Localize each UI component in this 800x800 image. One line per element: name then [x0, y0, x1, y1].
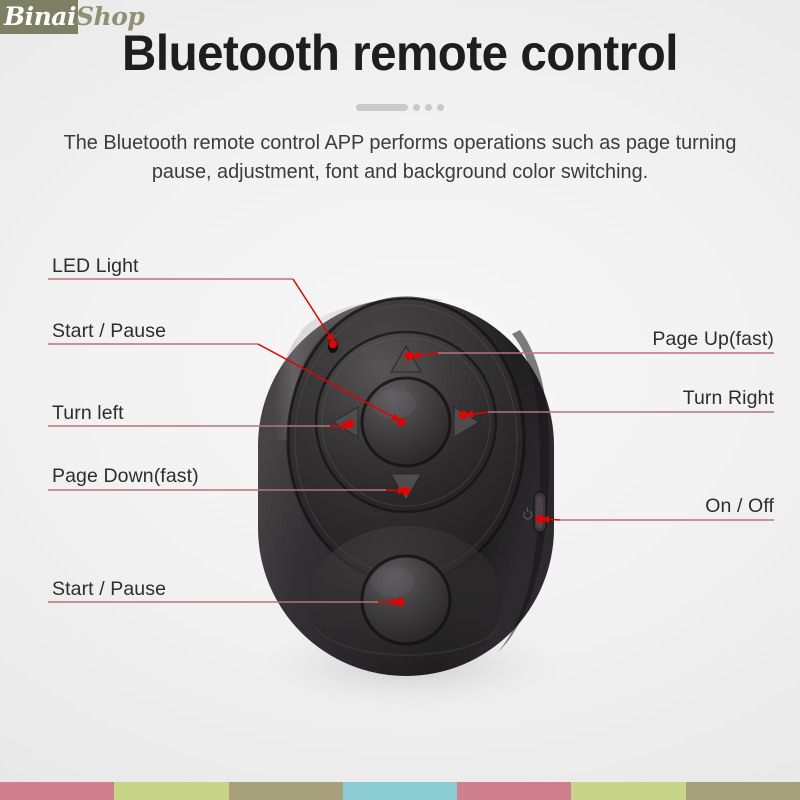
dot-on-off	[536, 515, 544, 523]
color-strip-segment-6	[571, 782, 685, 800]
power-button-side[interactable]	[534, 492, 546, 532]
callout-start-pause-bottom: Start / Pause	[52, 577, 166, 601]
dot-turn-left	[346, 420, 354, 428]
dot-turn-right	[459, 411, 467, 419]
dot-start-pause-top	[397, 418, 405, 426]
color-strip-segment-3	[229, 782, 343, 800]
callout-turn-left: Turn left	[52, 401, 124, 425]
color-strip-segment-7	[686, 782, 800, 800]
watermark-logo-primary: Binai	[4, 2, 76, 31]
product-illustration	[0, 0, 800, 800]
bottom-color-strip	[0, 782, 800, 800]
color-strip-segment-2	[114, 782, 228, 800]
infographic-page: BinaiShop Bluetooth remote control The B…	[0, 0, 800, 800]
start-pause-button-gloss	[371, 567, 415, 597]
dot-page-up	[405, 352, 413, 360]
dpad-center-gloss	[372, 389, 416, 419]
callout-turn-right: Turn Right	[683, 386, 774, 410]
callout-page-down: Page Down(fast)	[52, 464, 199, 488]
color-strip-segment-1	[0, 782, 114, 800]
color-strip-segment-5	[457, 782, 571, 800]
watermark-logo-secondary: Shop	[76, 2, 144, 31]
dot-led-light	[329, 340, 337, 348]
color-strip-segment-4	[343, 782, 457, 800]
callout-page-up: Page Up(fast)	[652, 327, 774, 351]
callout-led-light: LED Light	[52, 254, 139, 278]
dot-page-down	[402, 487, 410, 495]
dpad[interactable]	[316, 332, 496, 512]
callout-start-pause-top: Start / Pause	[52, 319, 166, 343]
watermark-logo-text: BinaiShop	[4, 0, 144, 34]
dot-start-pause-bottom	[396, 598, 404, 606]
leader-on-off-arrow	[542, 519, 560, 520]
callout-on-off: On / Off	[705, 494, 774, 518]
